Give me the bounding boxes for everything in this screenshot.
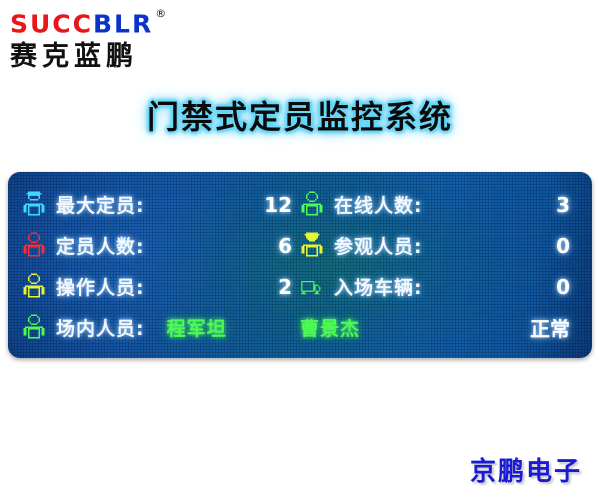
led-value-vehicle-count: 0 [556, 275, 570, 299]
person-icon [22, 231, 46, 261]
logo-text-blr: BLR [93, 9, 153, 38]
led-row-vehicle-count: 入场车辆: 0 [300, 266, 578, 307]
company-logo: SUCCBLR® 赛克蓝鹏 [10, 6, 220, 74]
led-label-max-capacity: 最大定员: [56, 191, 145, 218]
led-row-assigned-count: 定员人数: 6 [22, 225, 300, 266]
onsite-name-2: 曹景杰 [300, 314, 360, 341]
person-online-icon [300, 190, 324, 220]
led-label-onsite-personnel: 场内人员: [56, 314, 145, 341]
led-row-visitor-count: 参观人员: 0 [300, 225, 578, 266]
page-title: 门禁式定员监控系统 [0, 92, 600, 138]
led-row-max-capacity: 最大定员: 12 [22, 184, 300, 225]
led-value-max-capacity: 12 [264, 193, 292, 217]
footer-brand-text: 京鹏电子 [470, 451, 582, 488]
logo-chinese-text: 赛克蓝鹏 [10, 40, 220, 74]
status-badge: 正常 [530, 313, 570, 342]
person-worker-icon [22, 272, 46, 302]
led-value-operator-count: 2 [278, 275, 292, 299]
led-label-operator-count: 操作人员: [56, 273, 145, 300]
led-value-online-count: 3 [556, 193, 570, 217]
led-row-online-count: 在线人数: 3 [300, 184, 578, 225]
person-onsite-icon [22, 313, 46, 343]
led-content-grid: 最大定员: 12 在线人数: 3 [8, 172, 592, 358]
led-row-onsite-personnel: 场内人员: 程军坦 [22, 307, 300, 348]
person-visitor-icon [300, 231, 324, 261]
led-row-onsite-status: 曹景杰 正常 [300, 307, 578, 348]
led-row-operator-count: 操作人员: 2 [22, 266, 300, 307]
person-cap-icon [22, 190, 46, 220]
registered-mark-icon: ® [155, 7, 168, 20]
led-display-panel: 最大定员: 12 在线人数: 3 [8, 172, 592, 358]
led-value-assigned-count: 6 [278, 234, 292, 258]
onsite-name-1: 程军坦 [167, 314, 227, 341]
truck-icon [300, 272, 324, 302]
led-label-online-count: 在线人数: [334, 191, 423, 218]
logo-text-succ: SUCC [10, 9, 93, 38]
led-label-assigned-count: 定员人数: [56, 232, 145, 259]
led-label-vehicle-count: 入场车辆: [334, 273, 423, 300]
led-label-visitor-count: 参观人员: [334, 232, 423, 259]
led-value-visitor-count: 0 [556, 234, 570, 258]
logo-latin-text: SUCCBLR® [10, 6, 220, 38]
